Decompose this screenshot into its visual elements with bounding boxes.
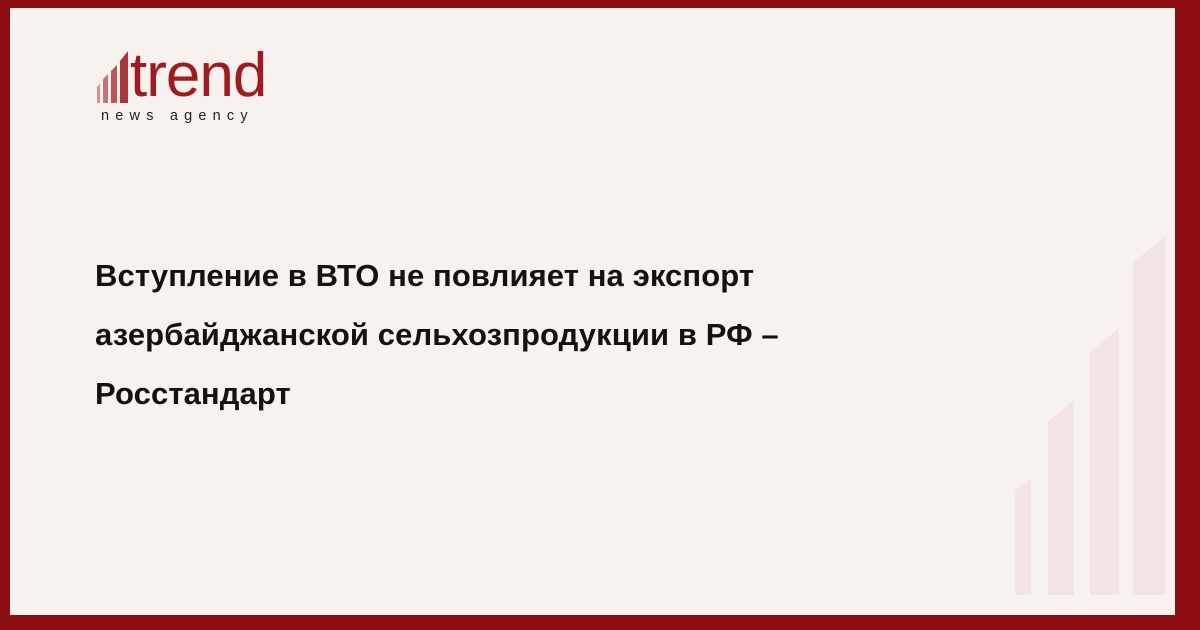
brand-logo[interactable]: trend news agency (95, 43, 415, 124)
headline-line-1: Вступление в ВТО не повлияет на экспорт (95, 258, 754, 293)
logo-row: trend (95, 43, 415, 105)
headline-line-2: азербайджанской сельхозпродукции в РФ – (95, 317, 779, 352)
brand-tagline: news agency (101, 108, 415, 124)
page-title: Вступление в ВТО не повлияет на экспорт … (95, 246, 975, 423)
card-body: trend news agency Вступление в ВТО не по… (10, 8, 1175, 615)
share-card: trend news agency Вступление в ВТО не по… (0, 0, 1200, 630)
brand-wordmark: trend (130, 47, 266, 105)
ascending-bars-icon (95, 49, 129, 105)
ascending-bars-watermark-icon (985, 8, 1175, 615)
headline-line-3: Росстандарт (95, 376, 291, 411)
